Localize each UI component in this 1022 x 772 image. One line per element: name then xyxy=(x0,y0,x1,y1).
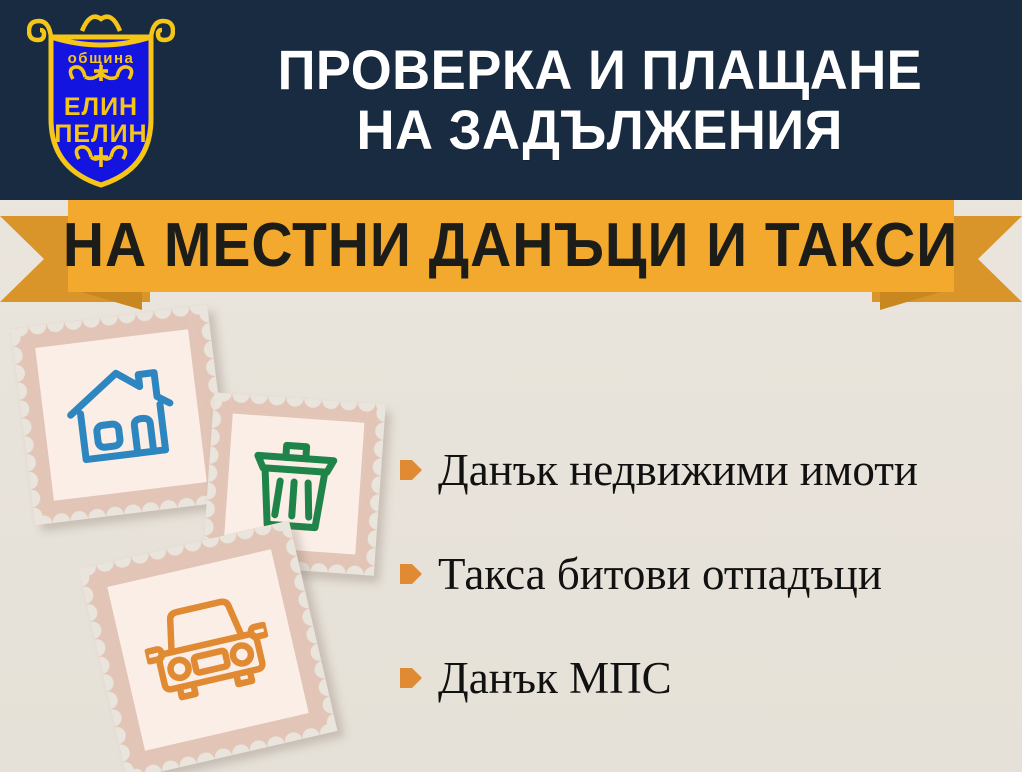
tax-type-list: Данък недвижими имоти Такса битови отпад… xyxy=(400,418,1010,730)
list-item-label: Данък МПС xyxy=(438,656,672,701)
arrow-bullet-icon xyxy=(400,666,422,690)
car-front-icon xyxy=(136,585,280,714)
header-title-line-2: НА ЗАДЪЛЖЕНИЯ xyxy=(357,100,843,160)
stamp-paper xyxy=(35,329,207,501)
ribbon-main-panel: НА МЕСТНИ ДАНЪЦИ И ТАКСИ xyxy=(68,200,954,292)
ribbon-text: НА МЕСТНИ ДАНЪЦИ И ТАКСИ xyxy=(63,215,958,277)
header-bar: община ЕЛИН ПЕЛИН xyxy=(0,0,1022,200)
svg-text:община: община xyxy=(68,50,135,67)
header-title-line-1: ПРОВЕРКА И ПЛАЩАНЕ xyxy=(278,40,923,100)
header-title-block: ПРОВЕРКА И ПЛАЩАНЕ НА ЗАДЪЛЖЕНИЯ xyxy=(190,20,1010,180)
list-item[interactable]: Данък МПС xyxy=(400,626,1010,730)
list-item-label: Данък недвижими имоти xyxy=(438,448,918,493)
list-item[interactable]: Данък недвижими имоти xyxy=(400,418,1010,522)
poster-root: община ЕЛИН ПЕЛИН xyxy=(0,0,1022,772)
arrow-bullet-icon xyxy=(400,562,422,586)
stamp-paper xyxy=(107,549,308,750)
svg-text:ПЕЛИН: ПЕЛИН xyxy=(54,120,147,148)
list-item[interactable]: Такса битови отпадъци xyxy=(400,522,1010,626)
house-icon xyxy=(59,359,182,472)
stamp-real-estate xyxy=(11,305,232,526)
municipality-logo: община ЕЛИН ПЕЛИН xyxy=(27,9,175,190)
ribbon-banner: НА МЕСТНИ ДАНЪЦИ И ТАКСИ xyxy=(0,200,1022,310)
list-item-label: Такса битови отпадъци xyxy=(438,552,882,597)
svg-text:ЕЛИН: ЕЛИН xyxy=(64,93,138,121)
trash-bin-icon xyxy=(243,431,346,537)
arrow-bullet-icon xyxy=(400,458,422,482)
